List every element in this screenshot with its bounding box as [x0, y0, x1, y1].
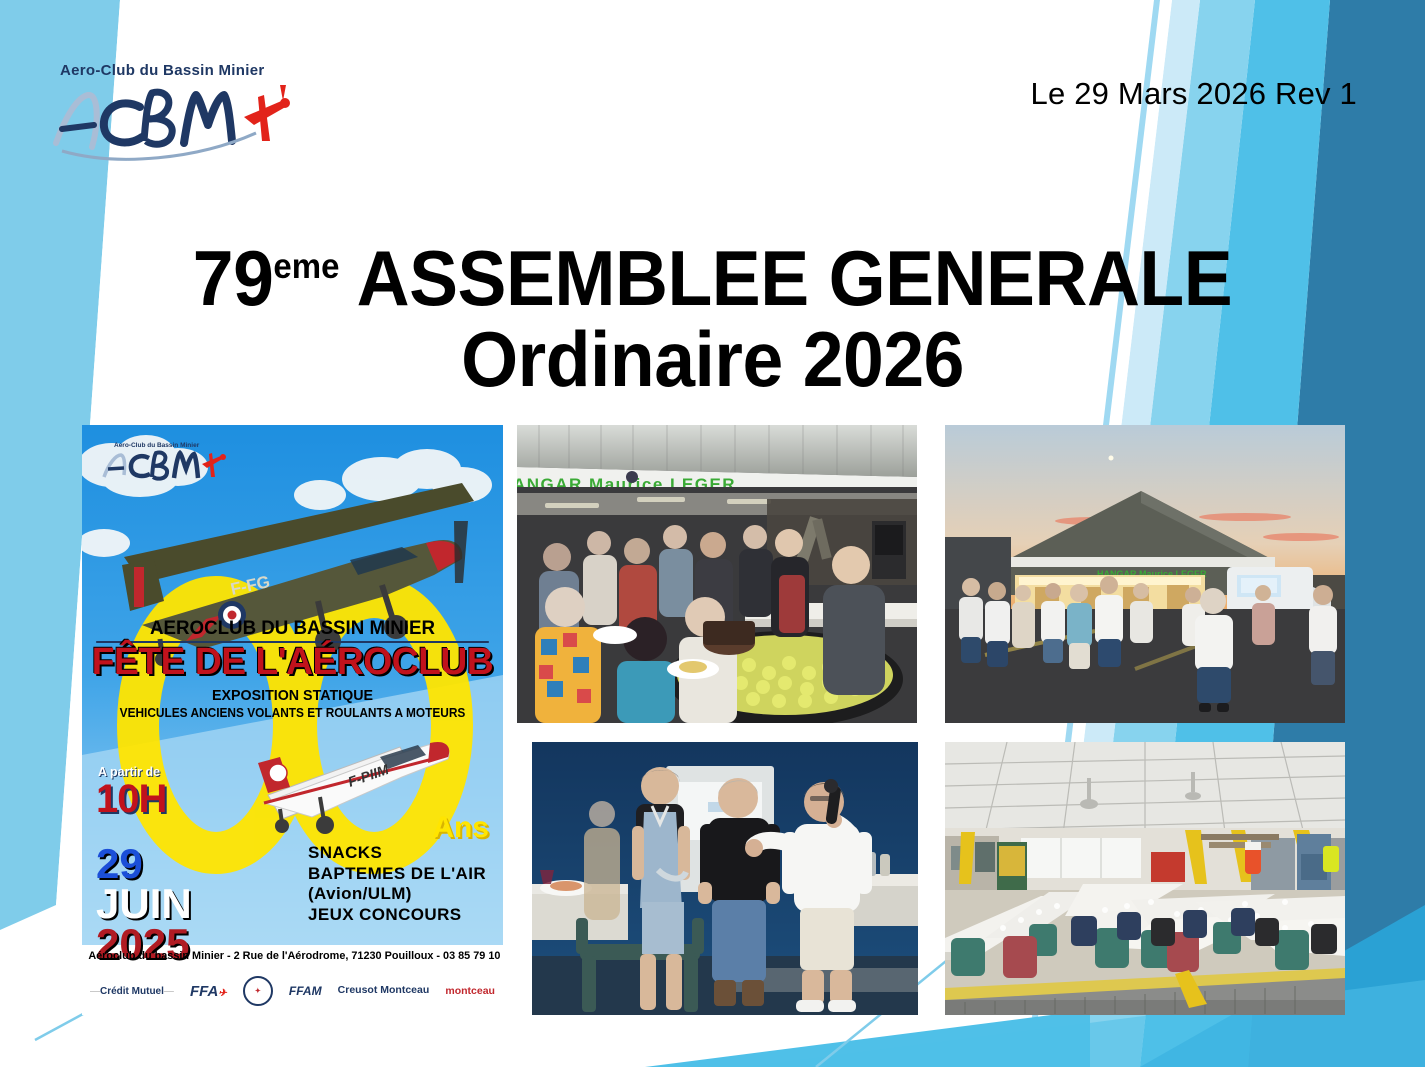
- red-plane-icon: [244, 85, 290, 141]
- acbm-logo: Aero-Club du Bassin Minier: [48, 55, 298, 175]
- poster-subtitle-1: EXPOSITION STATIQUE: [93, 687, 493, 704]
- poster-subtitle-2: VEHICULES ANCIENS VOLANTS ET ROULANTS A …: [93, 706, 493, 720]
- poster-anniversary-word: Ans: [432, 811, 489, 845]
- sponsor-creusot-montceau: Creusot Montceau: [338, 985, 430, 996]
- sponsor-aero-club-de-france: ✦: [243, 976, 273, 1006]
- poster-activities: SNACKS BAPTEMES DE L'AIR (Avion/ULM) JEU…: [308, 843, 486, 926]
- sponsor-montceau: montceau: [445, 985, 495, 997]
- poster-club-line: AEROCLUB DU BASSIN MINIER: [96, 617, 489, 643]
- document-date-revision: Le 29 Mars 2026 Rev 1: [1031, 76, 1357, 112]
- poster-activity-item: BAPTEMES DE L'AIR: [308, 864, 486, 885]
- poster-sponsor-strip: —Crédit Mutuel— FFA✈ ✦ FFAM Creusot Mont…: [90, 973, 495, 1009]
- poster-activity-item: SNACKS: [308, 843, 486, 864]
- presentation-slide: Aero-Club du Bassin Minier Le 29 Mars 20…: [0, 0, 1425, 1067]
- fete-de-l-aeroclub-poster: Aero-Club du Bassin Minier: [82, 425, 503, 1015]
- logo-org-name-text: Aero-Club du Bassin Minier: [60, 62, 264, 79]
- photo-banquet-tables: [945, 742, 1345, 1015]
- photo-speech: [532, 742, 918, 1015]
- poster-activity-item: (Avion/ULM): [308, 884, 486, 905]
- svg-text:Aero-Club du Bassin Minier: Aero-Club du Bassin Minier: [114, 442, 200, 449]
- sponsor-credit-mutuel: —Crédit Mutuel—: [90, 986, 174, 997]
- sponsor-ffam: FFAM: [289, 984, 322, 998]
- sponsor-ffa: FFA✈: [190, 983, 227, 1000]
- poster-activity-item: JEUX CONCOURS: [308, 905, 486, 926]
- photo-hangar-meal: ANGAR Maurice LEGER: [517, 425, 917, 723]
- poster-footer-contact: Aéroclub du bassin Minier - 2 Rue de l'A…: [88, 950, 496, 962]
- poster-event-title: FÊTE DE L'AÉROCLUB: [86, 641, 499, 684]
- photo-hangar-sunset: HANGAR Maurice LEGER: [945, 425, 1345, 723]
- poster-time: 10H: [96, 777, 166, 822]
